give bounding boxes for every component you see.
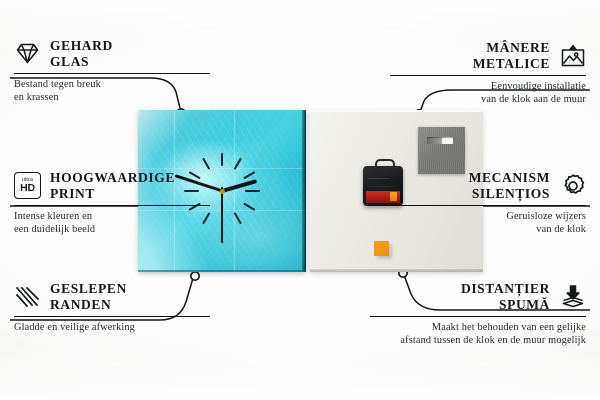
- feature-subtitle-line2: van de klok aan de muur: [390, 93, 586, 106]
- feature-subtitle-line2: en krassen: [14, 91, 210, 104]
- mechanism-detail: [368, 178, 389, 179]
- feature-polished-edges: GESLEPEN RANDEN Gladde en veilige afwerk…: [14, 281, 210, 334]
- feature-divider: [14, 205, 210, 206]
- feature-divider: [14, 316, 210, 317]
- feature-silent-mechanism: MECANISM SILENȚIOS Geruisloze wijzers va…: [390, 170, 586, 236]
- feature-title-line2: GLAS: [50, 54, 113, 70]
- feature-header: MECANISM SILENȚIOS: [390, 170, 586, 201]
- feature-divider: [390, 205, 586, 206]
- metal-hanger: [418, 127, 465, 174]
- feature-header: GEHARD GLAS: [14, 38, 210, 69]
- feature-header: MÂNERE METALICE: [390, 40, 586, 71]
- feature-foam-spacer: DISTANȚIER SPUMĂ Maakt het behouden van …: [370, 281, 586, 347]
- feature-tempered-glass: GEHARD GLAS Bestand tegen breuk en krass…: [14, 38, 210, 104]
- feature-title-line1: MÂNERE: [473, 40, 550, 56]
- feature-subtitle-line1: Maakt het behouden van een gelijke: [370, 321, 586, 334]
- connector-dot-polished-edges: [191, 272, 199, 280]
- feature-title-line1: DISTANȚIER: [461, 281, 550, 297]
- diamond-icon: [14, 40, 41, 67]
- feature-title-line2: SPUMĂ: [461, 297, 550, 313]
- feature-title-line2: RANDEN: [50, 297, 127, 313]
- feature-title-line1: GESLEPEN: [50, 281, 127, 297]
- ultra-hd-icon: ultra HD: [14, 172, 41, 199]
- glass-edge: [302, 110, 306, 272]
- feature-header: GESLEPEN RANDEN: [14, 281, 210, 312]
- feature-title-line1: HOOGWAARDIGE: [50, 170, 175, 186]
- feature-subtitle-line1: Geruisloze wijzers: [390, 210, 586, 223]
- feature-header: DISTANȚIER SPUMĂ: [370, 281, 586, 312]
- feature-subtitle-line2: afstand tussen de klok en de muur mogeli…: [370, 334, 586, 347]
- feature-metal-handles: MÂNERE METALICE Eenvoudige installatie v…: [390, 40, 586, 106]
- hd-icon-hd-label: HD: [20, 183, 35, 194]
- feature-divider: [14, 73, 210, 74]
- feature-subtitle-line1: Eenvoudige installatie: [390, 80, 586, 93]
- panel-bottom-edge: [310, 269, 483, 272]
- feature-hd-print: ultra HD HOOGWAARDIGE PRINT Intense kleu…: [14, 170, 210, 236]
- diagonal-lines-icon: [14, 283, 41, 310]
- clock-second-hand: [221, 187, 223, 243]
- mechanism-hook: [375, 159, 395, 170]
- foam-spacer: [374, 241, 389, 256]
- feature-header: ultra HD HOOGWAARDIGE PRINT: [14, 170, 210, 201]
- feature-title-line2: SILENȚIOS: [469, 186, 550, 202]
- glass-bottom-edge: [138, 270, 306, 272]
- feature-subtitle-line1: Gladde en veilige afwerking: [14, 321, 210, 334]
- feature-subtitle-line2: een duidelijk beeld: [14, 223, 210, 236]
- gear-icon: [559, 172, 586, 199]
- feature-divider: [390, 75, 586, 76]
- feature-divider: [370, 316, 586, 317]
- feature-title-line2: PRINT: [50, 186, 175, 202]
- feature-subtitle-line1: Intense kleuren en: [14, 210, 210, 223]
- feature-subtitle-line1: Bestand tegen breuk: [14, 78, 210, 91]
- picture-frame-icon: [559, 42, 586, 69]
- spacer-arrow-icon: [559, 283, 586, 310]
- feature-title-line1: MECANISM: [469, 170, 550, 186]
- hanger-slot: [427, 137, 453, 144]
- feature-subtitle-line2: van de klok: [390, 223, 586, 236]
- panel-top-edge: [310, 110, 483, 112]
- infographic-canvas: GEHARD GLAS Bestand tegen breuk en krass…: [0, 0, 600, 400]
- clock-center-pin: [220, 189, 225, 194]
- feature-title-line2: METALICE: [473, 56, 550, 72]
- feature-title-line1: GEHARD: [50, 38, 113, 54]
